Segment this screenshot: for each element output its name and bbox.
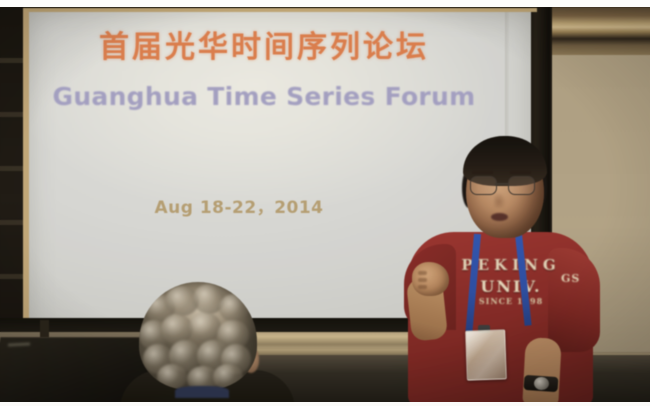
- slide-date: Aug 18-22，2014: [29, 193, 449, 218]
- name-badge: [465, 329, 507, 380]
- wall-trim-top: [548, 7, 650, 55]
- audience-collar: [175, 386, 229, 398]
- presenter-nose: [494, 192, 506, 208]
- slide-title-chinese: 首届光华时间序列论坛: [29, 22, 499, 66]
- presenter-eyebrow-right: [510, 171, 531, 174]
- eyeglasses-bridge: [495, 183, 508, 185]
- presenter-mouth: [491, 213, 508, 221]
- slide-title-english: Guanghua Time Series Forum: [29, 82, 499, 111]
- badge-sheen: [466, 330, 506, 379]
- presenter-gesturing-hand: [412, 262, 449, 296]
- presentation-photo: 首届光华时间序列论坛 Guanghua Time Series Forum Au…: [0, 0, 650, 406]
- presenter-right-arm: [522, 337, 562, 406]
- audience-head: [139, 282, 257, 390]
- presenter-eyebrow-left: [472, 171, 493, 174]
- eyeglasses-lens-left: [470, 176, 497, 195]
- letterbox-bottom: [0, 402, 650, 406]
- eyeglasses-lens-right: [508, 176, 535, 195]
- letterbox-top: [0, 0, 650, 7]
